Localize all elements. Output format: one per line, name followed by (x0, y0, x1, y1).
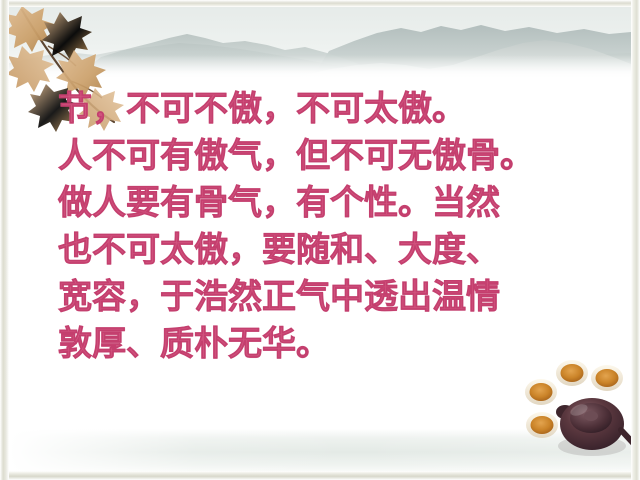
poem-line-4: 也不可太傲，要随和、大度、 (58, 227, 618, 274)
poem-line-2: 人不可有傲气，但不可无傲骨。 (58, 133, 618, 180)
maple-leaf-1 (4, 6, 54, 52)
poem-line-6: 敦厚、质朴无华。 (58, 321, 618, 368)
tea-cup-4 (526, 412, 558, 438)
frame-border-bottom (0, 471, 640, 480)
poem-line-5: 宽容，于浩然正气中透出温情 (58, 274, 618, 321)
tea-set-illustration (520, 352, 636, 460)
tea-cup-3 (591, 365, 623, 391)
teapot-and-cups (520, 352, 636, 460)
poem-line-3: 做人要有骨气，有个性。当然 (58, 180, 618, 227)
poem-text-block: 节，不可不傲，不可太傲。 人不可有傲气，但不可无傲骨。 做人要有骨气，有个性。当… (58, 86, 618, 368)
tea-cup-1 (525, 379, 557, 405)
teapot-knob (584, 411, 598, 421)
slide-canvas: 节，不可不傲，不可太傲。 人不可有傲气，但不可无傲骨。 做人要有骨气，有个性。当… (0, 0, 640, 480)
poem-line-1: 节，不可不傲，不可太傲。 (58, 86, 618, 133)
